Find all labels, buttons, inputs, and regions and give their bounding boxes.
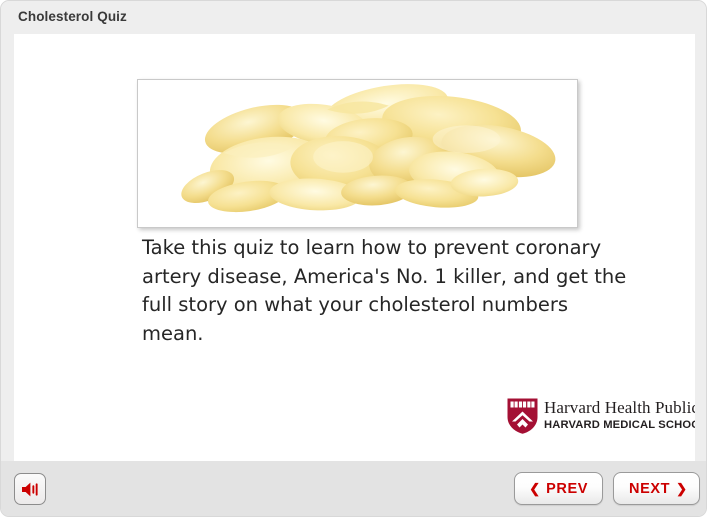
harvard-logo-line-1: Harvard Health Publications — [544, 398, 695, 417]
harvard-shield-icon — [506, 397, 539, 435]
footer-bar: ❮ PREV NEXT ❯ — [1, 461, 707, 517]
speaker-icon — [21, 481, 40, 498]
hero-image-frame — [137, 79, 578, 228]
harvard-logo: Harvard Health Publications HARVARD MEDI… — [506, 396, 684, 438]
chevron-right-icon: ❯ — [676, 482, 687, 495]
title-bar: Cholesterol Quiz — [1, 1, 707, 34]
next-button-label: NEXT — [629, 481, 670, 497]
next-button[interactable]: NEXT ❯ — [613, 472, 700, 505]
potato-chips-photo — [138, 80, 577, 227]
harvard-logo-text: Harvard Health Publications HARVARD MEDI… — [544, 398, 695, 432]
prev-button[interactable]: ❮ PREV — [514, 472, 603, 505]
quiz-window: Cholesterol Quiz — [0, 0, 707, 517]
navigation-buttons: ❮ PREV NEXT ❯ — [514, 472, 700, 505]
chevron-left-icon: ❮ — [529, 482, 540, 495]
harvard-logo-line-2: HARVARD MEDICAL SCHOOL — [544, 418, 695, 432]
quiz-intro-text: Take this quiz to learn how to prevent c… — [142, 234, 632, 348]
audio-toggle-button[interactable] — [14, 473, 46, 505]
prev-button-label: PREV — [546, 481, 588, 497]
page-title: Cholesterol Quiz — [18, 9, 127, 24]
content-pane: Take this quiz to learn how to prevent c… — [14, 34, 695, 461]
